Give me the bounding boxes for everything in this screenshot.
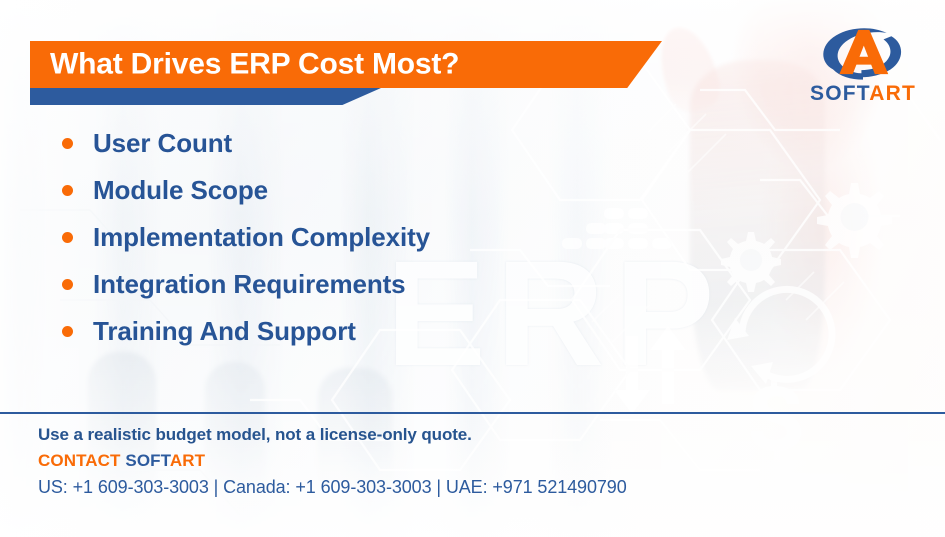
footer-tagline: Use a realistic budget model, not a lice…: [38, 425, 627, 445]
page-title: What Drives ERP Cost Most?: [50, 47, 459, 81]
list-item-label: Implementation Complexity: [93, 222, 430, 253]
footer-divider: [0, 412, 945, 414]
list-item: Training And Support: [62, 316, 430, 347]
softart-logo[interactable]: SOFTART: [799, 22, 927, 110]
list-item: Module Scope: [62, 175, 430, 206]
list-item: Implementation Complexity: [62, 222, 430, 253]
cost-driver-list: User Count Module Scope Implementation C…: [62, 128, 430, 347]
logo-word-soft: SOFT: [810, 82, 869, 105]
list-item-label: Module Scope: [93, 175, 268, 206]
softart-a-swoosh-icon: [815, 22, 911, 82]
logo-wordmark: SOFTART: [810, 83, 916, 104]
footer-brand-art: ART: [170, 451, 205, 470]
list-item-label: User Count: [93, 128, 232, 159]
header-banner: What Drives ERP Cost Most?: [30, 41, 662, 88]
logo-word-art: ART: [869, 82, 916, 105]
header-blue-underbar: [30, 88, 381, 105]
bullet-dot-icon: [62, 279, 73, 290]
footer-contact-word: CONTACT: [38, 451, 125, 470]
footer-contact-heading: CONTACT SOFTART: [38, 451, 627, 471]
bullet-dot-icon: [62, 232, 73, 243]
bullet-dot-icon: [62, 326, 73, 337]
list-item: User Count: [62, 128, 430, 159]
footer-phone-numbers[interactable]: US: +1 609-303-3003 | Canada: +1 609-303…: [38, 477, 627, 498]
list-item-label: Integration Requirements: [93, 269, 406, 300]
list-item: Integration Requirements: [62, 269, 430, 300]
list-item-label: Training And Support: [93, 316, 356, 347]
poster-canvas: ERP: [0, 0, 945, 537]
bullet-dot-icon: [62, 138, 73, 149]
footer-brand-soft: SOFT: [125, 451, 169, 470]
bullet-dot-icon: [62, 185, 73, 196]
footer-block: Use a realistic budget model, not a lice…: [38, 425, 627, 498]
